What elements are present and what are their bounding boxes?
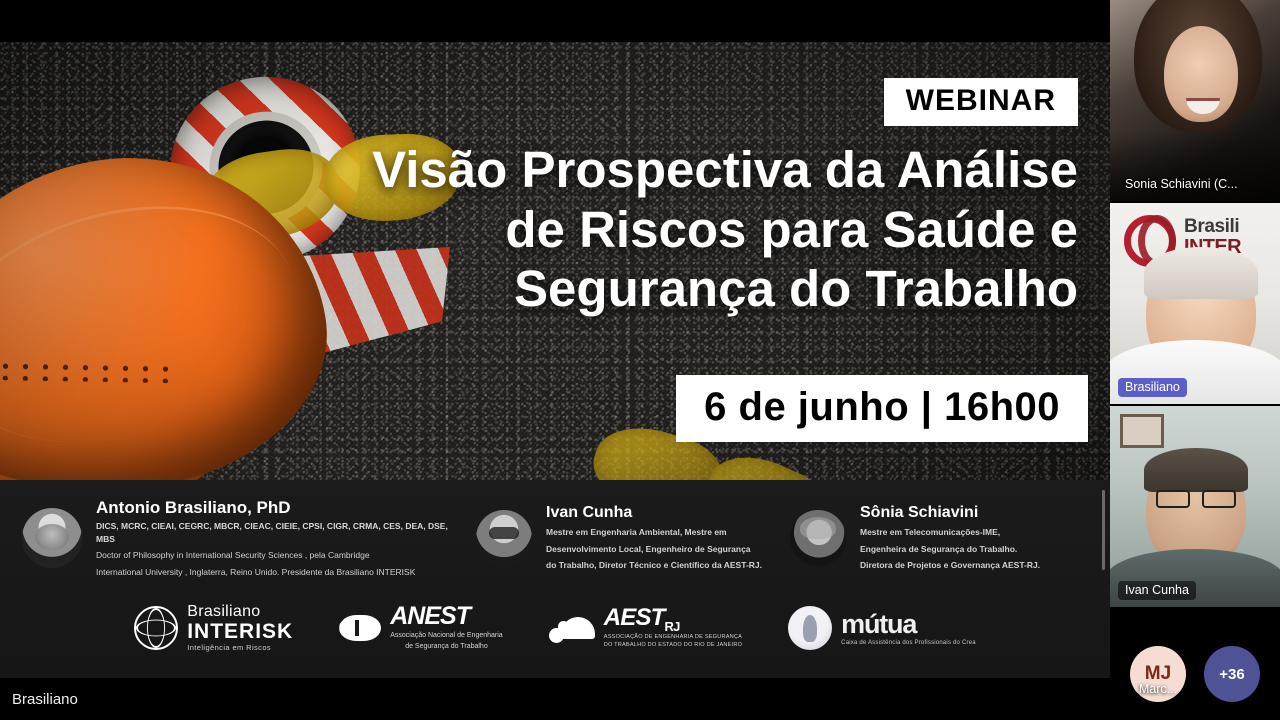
speaker-name: Ivan Cunha — [546, 503, 762, 523]
participant-filmstrip[interactable]: Sonia Schiavini (C... Brasili INTER Bras… — [1110, 0, 1280, 720]
avatar — [22, 508, 82, 568]
video-tile-sonia-schiavini[interactable]: Sonia Schiavini (C... — [1110, 0, 1280, 201]
slide-title-line-3: Segurança do Trabalho — [248, 259, 1078, 319]
event-date-badge: 6 de junho | 16h00 — [676, 375, 1088, 442]
presenter-name-bar: Brasiliano — [0, 678, 1110, 720]
speaker-card-antonio-brasiliano: Antonio Brasiliano, PhD DICS, MCRC, CIEA… — [0, 488, 468, 588]
speaker-card-ivan-cunha: Ivan Cunha Mestre em Engenharia Ambienta… — [468, 488, 780, 588]
participant-avatar-tile[interactable]: MJ Marc... — [1130, 646, 1186, 702]
logo-line-1: ANEST — [390, 604, 502, 629]
logo-tagline: Caixa de Assistência dos Profissionais d… — [841, 640, 976, 646]
speaker-bio-line-3: Diretora de Projetos e Governança AEST-R… — [860, 559, 1040, 573]
avatar — [790, 510, 846, 566]
participant-hair — [1144, 448, 1248, 492]
participant-name-label-active: Brasiliano — [1118, 378, 1187, 397]
logo-tagline: Inteligência em Riscos — [187, 643, 293, 652]
avatar — [476, 510, 532, 566]
logo-line-1: Brasiliano — [187, 604, 293, 620]
banner-line-1: Brasili — [1184, 216, 1239, 237]
logo-suffix: RJ — [665, 619, 680, 634]
logo-line-1: AESTRJ — [604, 606, 742, 633]
speaker-name: Antonio Brasiliano, PhD — [96, 497, 468, 518]
speaker-bio-line-1: Mestre em Engenharia Ambiental, Mestre e… — [546, 526, 762, 540]
logo-tagline: Associação Nacional de Engenharia de Seg… — [390, 631, 502, 652]
participant-name-label: Ivan Cunha — [1118, 581, 1196, 600]
meeting-window: WEBINAR Visão Prospectiva da Análise de … — [0, 0, 1280, 720]
speaker-bio-line-3: do Trabalho, Diretor Técnico e Científic… — [546, 559, 762, 573]
logo-aest-rj: AESTRJ ASSOCIAÇÃO DE ENGENHARIA DE SEGUR… — [549, 606, 742, 650]
video-tile-ivan-cunha[interactable]: Ivan Cunha — [1110, 406, 1280, 607]
logo-line-1-text: AEST — [604, 604, 665, 631]
slide-title-line-2: de Riscos para Saúde e — [248, 200, 1078, 260]
video-tile-brasiliano[interactable]: Brasili INTER Brasiliano — [1110, 203, 1280, 404]
logo-line-2: INTERISK — [187, 620, 293, 643]
sponsor-logo-row: Brasiliano INTERISK Inteligência em Risc… — [0, 588, 1110, 668]
presentation-slide[interactable]: WEBINAR Visão Prospectiva da Análise de … — [0, 42, 1110, 678]
logo-mutua: mútua Caixa de Assistência dos Profissio… — [788, 606, 976, 650]
speaker-bio-line-1: Doctor of Philosophy in International Se… — [96, 549, 468, 563]
mutua-emblem-icon — [788, 606, 832, 650]
filmstrip-overflow-row[interactable]: MJ Marc... +36 — [1110, 628, 1280, 720]
slide-title-line-1: Visão Prospectiva da Análise — [248, 140, 1078, 200]
speaker-card-sonia-schiavini: Sônia Schiavini Mestre em Telecomunicaçõ… — [780, 488, 1100, 588]
wall-picture-frame — [1120, 414, 1164, 448]
helmet-gear-icon — [549, 613, 595, 643]
speaker-bio-line-1: Mestre em Telecomunicações-IME, — [860, 526, 1040, 540]
speaker-bio-line-2: Desenvolvimento Local, Engenheiro de Seg… — [546, 543, 762, 557]
presenter-name: Brasiliano — [12, 691, 78, 708]
speakers-row: Antonio Brasiliano, PhD DICS, MCRC, CIEA… — [0, 488, 1110, 588]
speakers-strip: Antonio Brasiliano, PhD DICS, MCRC, CIEA… — [0, 480, 1110, 678]
stage-scrollbar[interactable] — [1102, 490, 1105, 570]
logo-anest: ANEST Associação Nacional de Engenharia … — [339, 604, 502, 652]
speaker-name: Sônia Schiavini — [860, 503, 1040, 523]
speaker-bio-line-2: Engenheira de Segurança do Trabalho. — [860, 543, 1040, 557]
webinar-badge: WEBINAR — [884, 78, 1078, 126]
anest-shield-icon — [339, 615, 381, 641]
globe-icon — [134, 606, 178, 650]
shared-content-stage[interactable]: WEBINAR Visão Prospectiva da Análise de … — [0, 0, 1110, 720]
more-participants-badge[interactable]: +36 — [1204, 646, 1260, 702]
participant-hair — [1144, 247, 1258, 299]
participant-name-label: Marc... — [1126, 682, 1190, 696]
logo-line-1: mútua — [841, 611, 976, 638]
participant-name-label: Sonia Schiavini (C... — [1118, 175, 1245, 194]
participant-eyeglasses-icon — [1156, 490, 1236, 508]
speaker-credentials: DICS, MCRC, CIEAI, CEGRC, MBCR, CIEAC, C… — [96, 520, 468, 546]
logo-tagline: ASSOCIAÇÃO DE ENGENHARIA DE SEGURANÇA DO… — [604, 633, 742, 650]
logo-brasiliano-interisk: Brasiliano INTERISK Inteligência em Risc… — [134, 604, 293, 652]
slide-title: Visão Prospectiva da Análise de Riscos p… — [248, 140, 1078, 319]
speaker-bio-line-2: International University , Inglaterra, R… — [96, 566, 468, 580]
